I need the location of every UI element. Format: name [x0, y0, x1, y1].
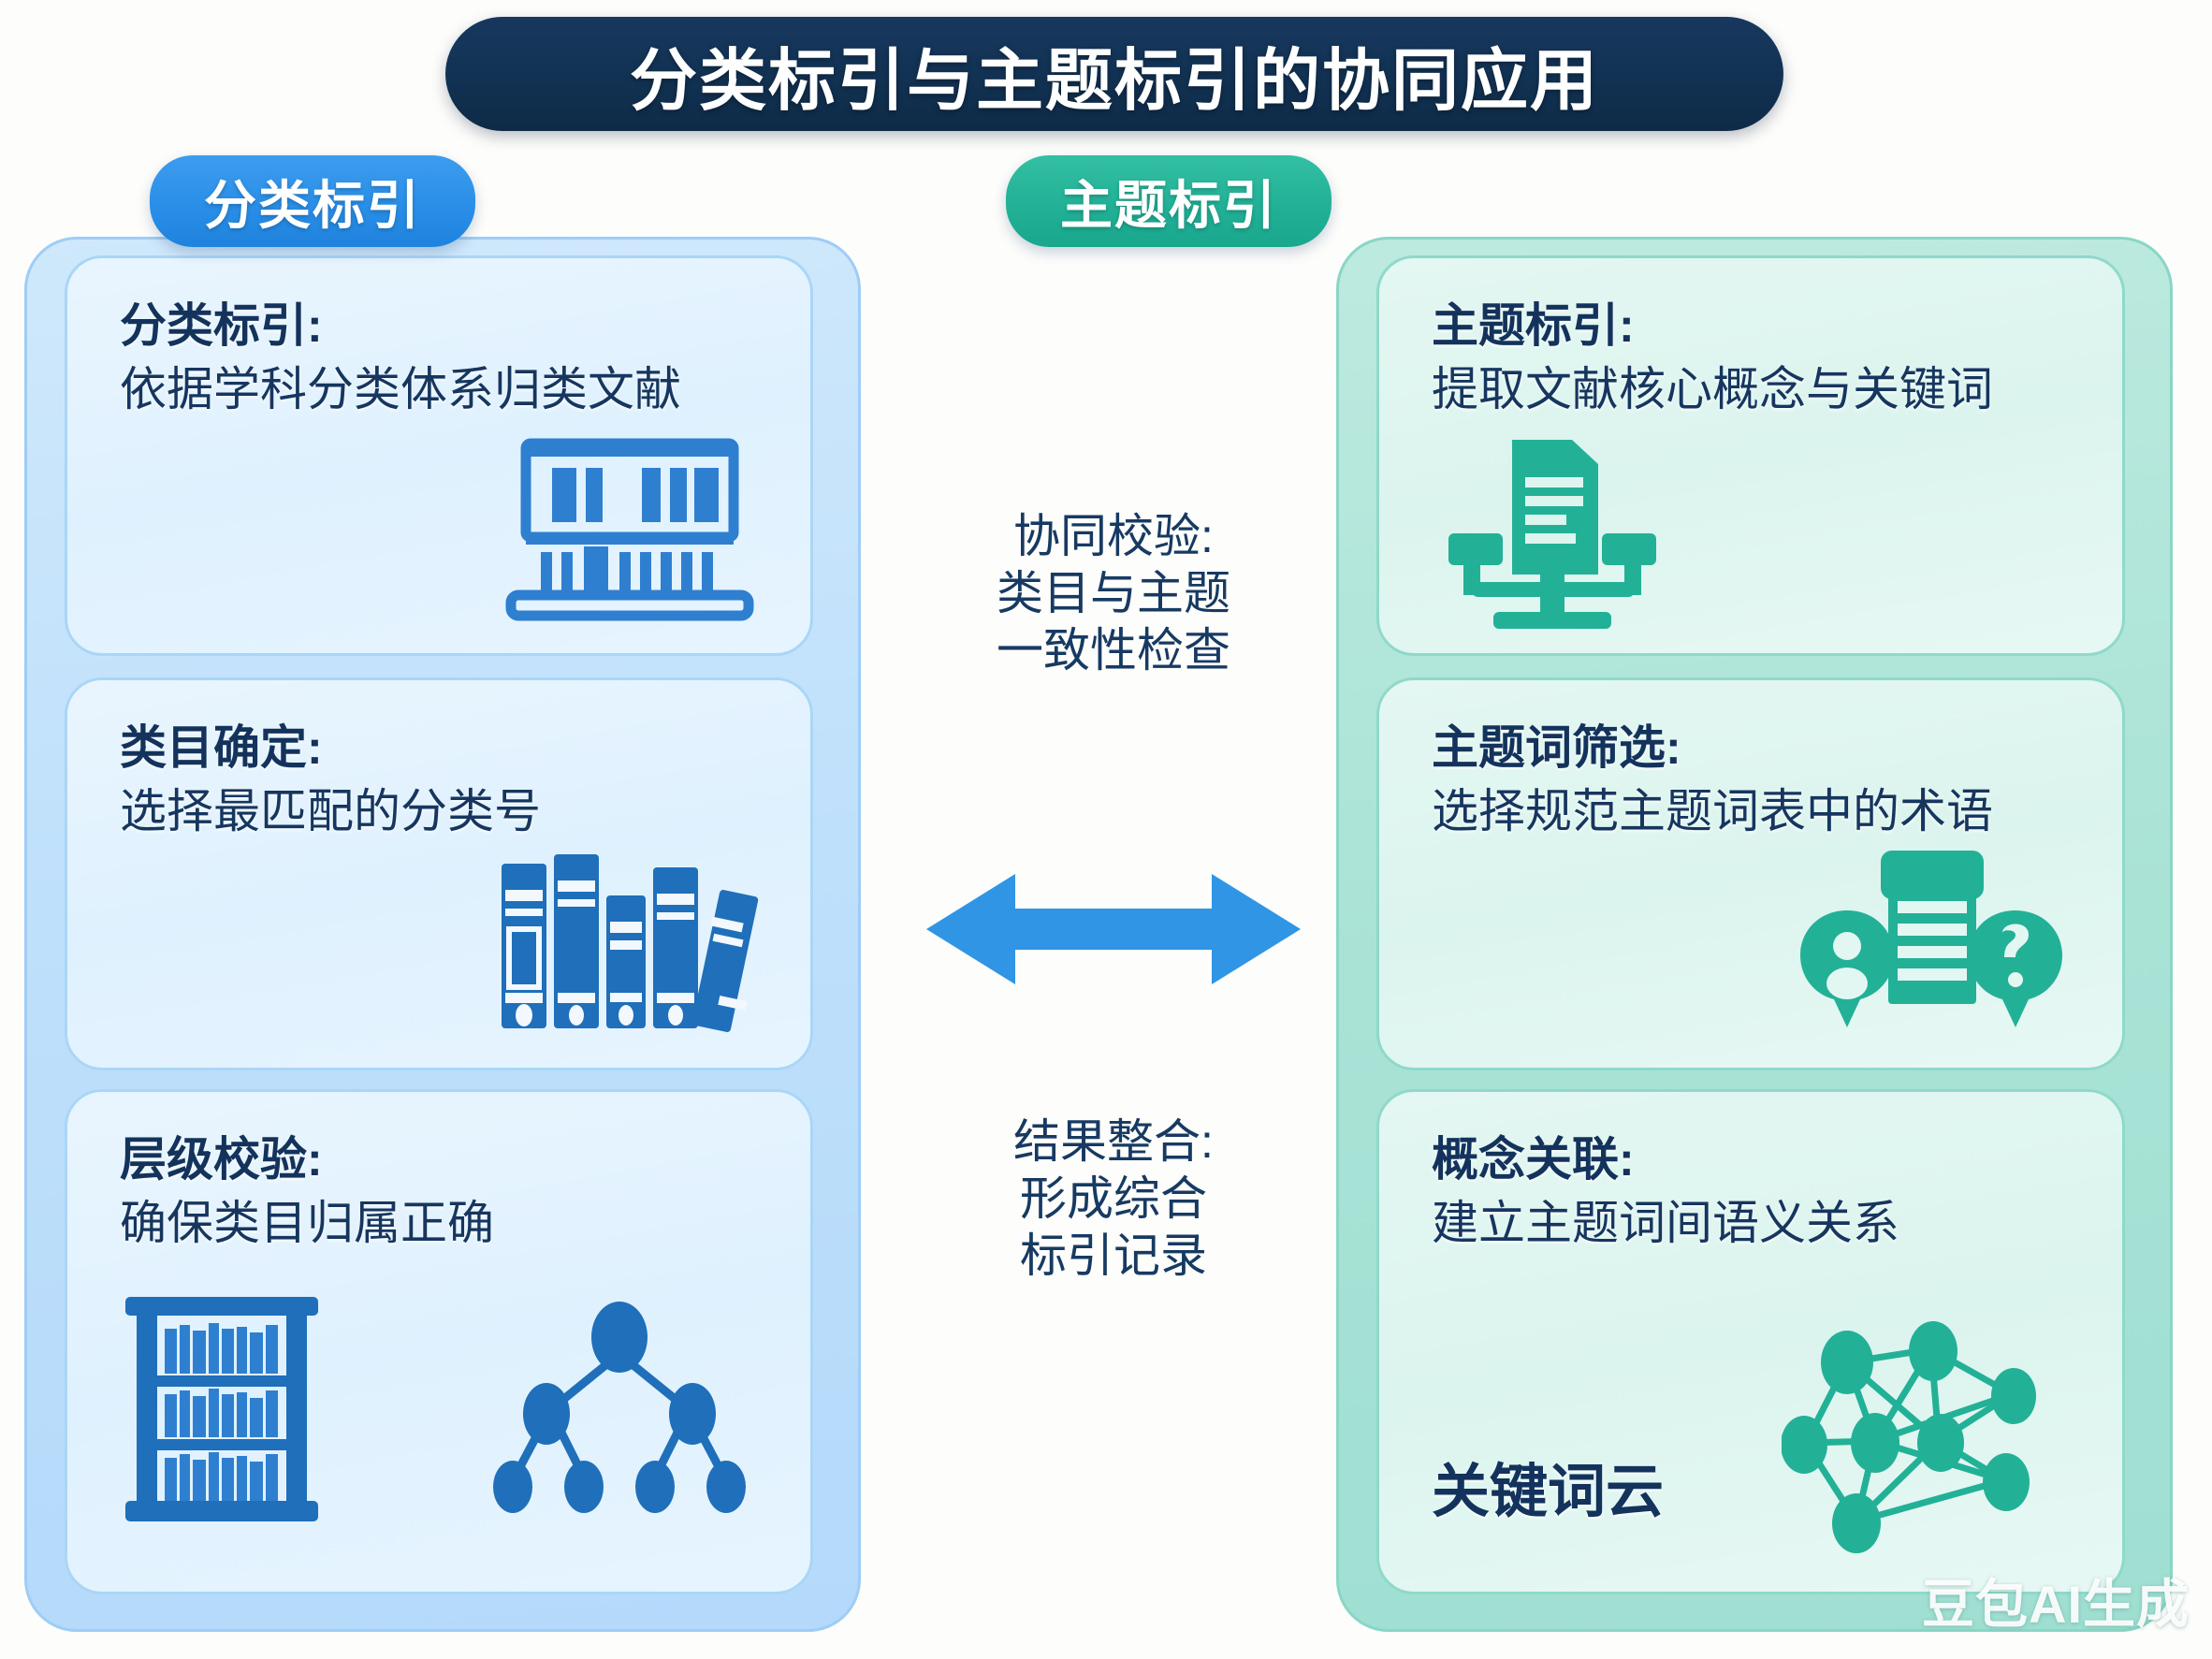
left-card-3-heading: 层级校验: [120, 1122, 323, 1189]
right-card-1[interactable]: 主题标引: 提取文献核心概念与关键词 [1376, 255, 2125, 656]
document-extract-icon [1435, 432, 1669, 638]
center-note-top-line-2: 类目与主题 [894, 565, 1333, 622]
center-note-top-line-1: 协同校验: [894, 508, 1333, 565]
right-panel-subject: 主题标引: 提取文献核心概念与关键词 [1336, 237, 2173, 1632]
left-card-2-heading: 类目确定: [120, 710, 323, 778]
left-panel-classification: 分类标引: 依据学科分类体系归类文献 [24, 237, 861, 1632]
left-card-1-heading: 分类标引: [120, 288, 323, 356]
center-note-top: 协同校验: 类目与主题 一致性检查 [894, 508, 1333, 679]
semantic-network-icon [1782, 1321, 2062, 1569]
right-card-3-extra-label: 关键词云 [1432, 1444, 1664, 1528]
right-card-2-heading: 主题词筛选: [1432, 710, 1681, 778]
right-card-1-heading: 主题标引: [1432, 288, 1635, 356]
left-card-3[interactable]: 层级校验: 确保类目归属正确 [65, 1089, 813, 1594]
right-panel-tab-label: 主题标引 [1060, 164, 1277, 240]
left-card-2-body: 选择最匹配的分类号 [120, 774, 541, 841]
center-note-bottom-line-1: 结果整合: [894, 1113, 1333, 1171]
left-panel-tab-label: 分类标引 [204, 164, 421, 240]
right-card-2-body: 选择规范主题词表中的术语 [1432, 774, 1993, 841]
book-binders-icon [488, 851, 769, 1042]
page-title: 分类标引与主题标引的协同应用 [630, 25, 1599, 124]
center-note-bottom-line-2: 形成综合 [894, 1171, 1333, 1228]
right-card-2[interactable]: 主题词筛选: 选择规范主题词表中的术语 [1376, 677, 2125, 1070]
hierarchy-tree-icon [488, 1296, 750, 1535]
right-card-3[interactable]: 概念关联: 建立主题词间语义关系 关键词云 [1376, 1089, 2125, 1594]
thesaurus-query-icon [1791, 847, 2072, 1048]
center-note-bottom-line-3: 标引记录 [894, 1228, 1333, 1285]
center-note-bottom: 结果整合: 形成综合 标引记录 [894, 1113, 1333, 1285]
left-panel-tab[interactable]: 分类标引 [150, 155, 475, 247]
left-card-2[interactable]: 类目确定: 选择最匹配的分类号 [65, 677, 813, 1070]
left-card-3-body: 确保类目归属正确 [120, 1186, 494, 1253]
right-card-1-body: 提取文献核心概念与关键词 [1432, 352, 1993, 419]
center-note-top-line-3: 一致性检查 [894, 622, 1333, 679]
left-card-1[interactable]: 分类标引: 依据学科分类体系归类文献 [65, 255, 813, 656]
library-building-icon [503, 436, 756, 628]
page-title-pill: 分类标引与主题标引的协同应用 [445, 17, 1783, 131]
right-card-3-heading: 概念关联: [1432, 1122, 1635, 1189]
right-card-3-body: 建立主题词间语义关系 [1432, 1186, 1899, 1253]
infographic-canvas: 分类标引与主题标引的协同应用 分类标引: 依据学科分类体系归类文献 [0, 0, 2212, 1659]
left-card-1-body: 依据学科分类体系归类文献 [120, 352, 681, 419]
double-headed-arrow-icon [926, 868, 1301, 990]
bookshelf-icon [124, 1293, 320, 1532]
right-panel-tab[interactable]: 主题标引 [1006, 155, 1332, 247]
